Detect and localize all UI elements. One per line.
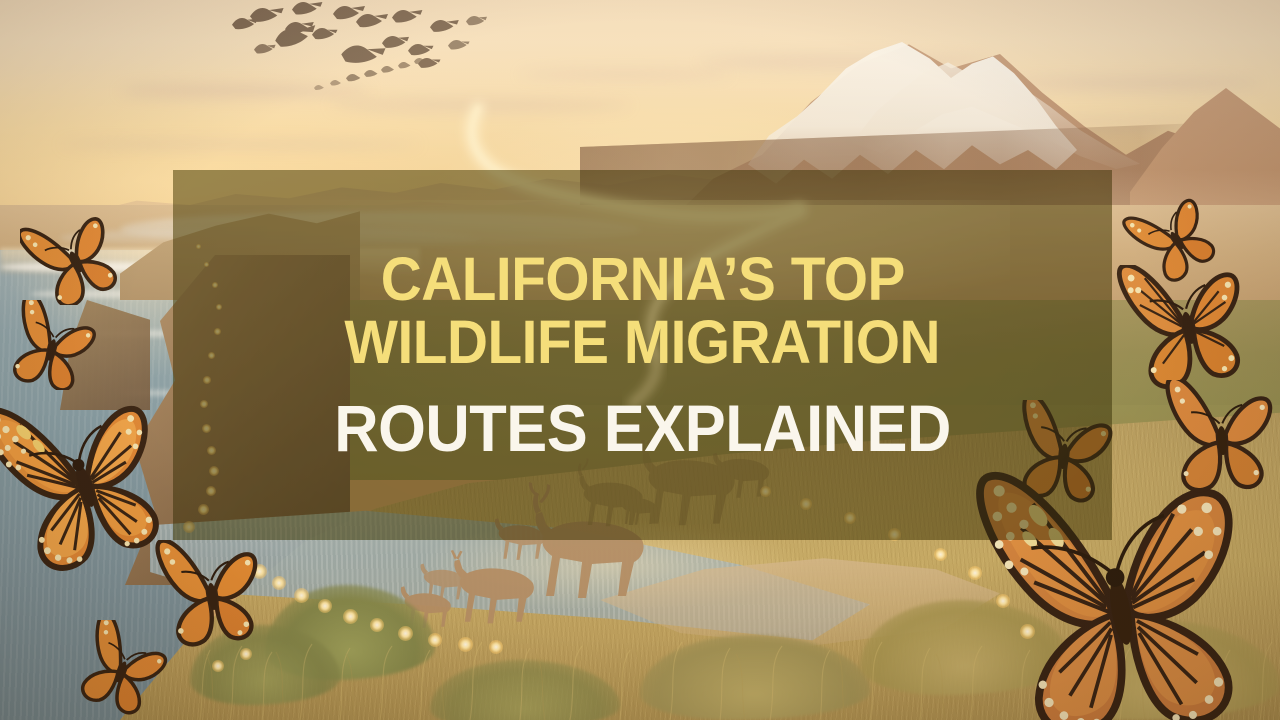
title-line-3: Routes Explained [334,395,951,461]
title-line-2: Wildlife Migration [345,312,941,373]
cloud-wisp [60,140,420,149]
title-line-1: California’s Top [380,249,904,310]
hero-image: California’s Top Wildlife Migration Rout… [0,0,1280,720]
cloud-wisp [330,100,630,110]
cloud-wisp [1000,78,1260,89]
cloud-wisp [520,70,730,79]
title-block: California’s Top Wildlife Migration Rout… [173,170,1112,540]
cloud-wisp [120,85,370,97]
